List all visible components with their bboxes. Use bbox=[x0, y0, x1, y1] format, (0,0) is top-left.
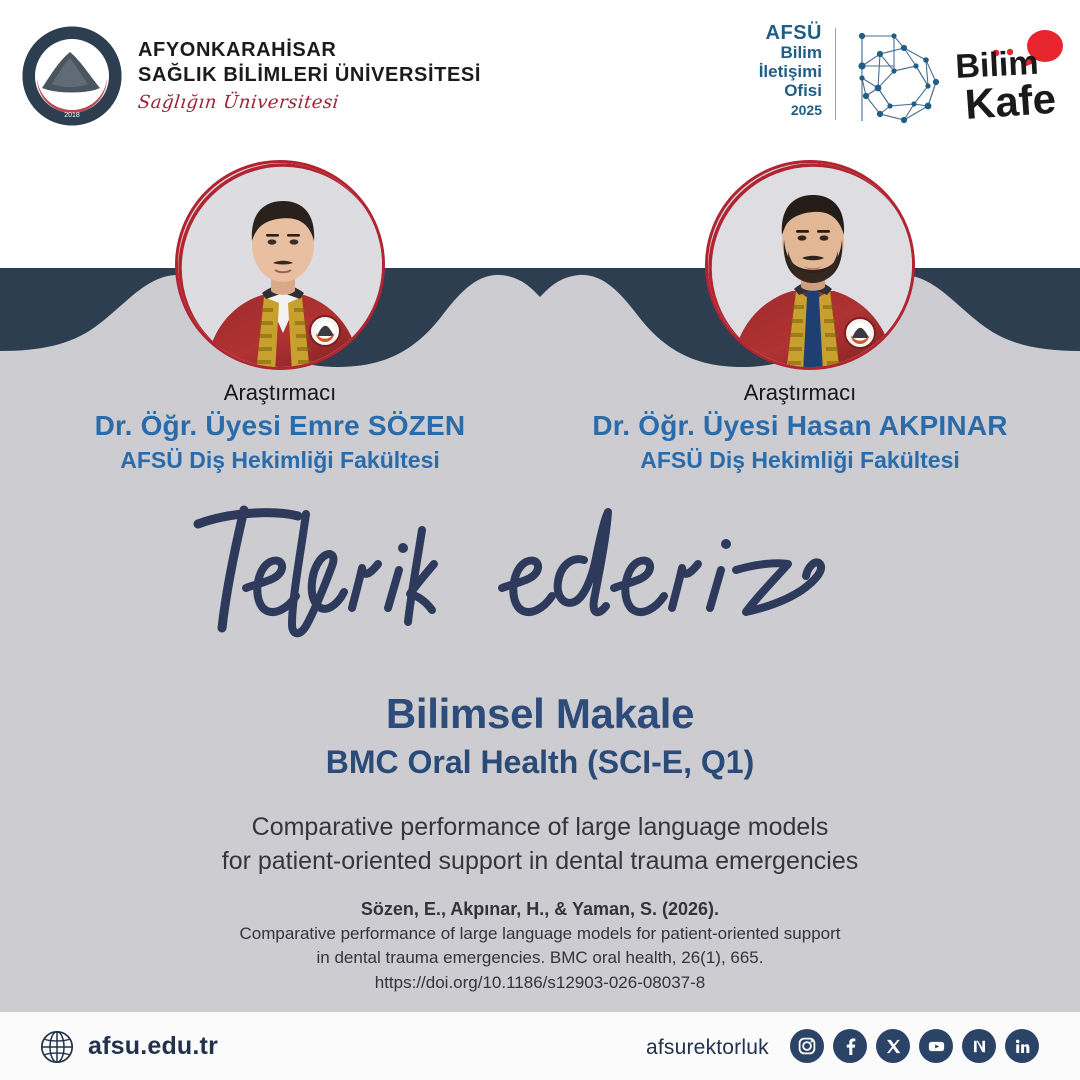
university-seal-icon: 2018 bbox=[22, 26, 122, 126]
instagram-icon[interactable] bbox=[790, 1029, 824, 1063]
office-line-bilim: Bilim bbox=[759, 43, 822, 62]
nsosyal-icon[interactable] bbox=[962, 1029, 996, 1063]
globe-icon bbox=[40, 1030, 74, 1064]
office-line-ofisi: Ofisi bbox=[759, 81, 822, 100]
citation-authors: Sözen, E., Akpınar, H., & Yaman, S. (202… bbox=[0, 896, 1080, 922]
youtube-icon[interactable] bbox=[919, 1029, 953, 1063]
poster-footer: afsu.edu.tr afsurektorluk bbox=[0, 1012, 1080, 1080]
social-links bbox=[790, 1029, 1039, 1063]
citation-title-line1: Comparative performance of large languag… bbox=[0, 922, 1080, 946]
researcher-faculty-2: AFSÜ Diş Hekimliği Fakültesi bbox=[570, 444, 1030, 476]
citation-block: Sözen, E., Akpınar, H., & Yaman, S. (202… bbox=[0, 896, 1080, 995]
header-divider bbox=[835, 28, 836, 120]
article-kicker: Bilimsel Makale bbox=[0, 688, 1080, 740]
office-line-year: 2025 bbox=[759, 101, 822, 120]
congratulations-poster: 2018 AFYONKARAHİSAR SAĞLIK BİLİMLERİ ÜNİ… bbox=[0, 0, 1080, 1080]
seal-year: 2018 bbox=[64, 112, 80, 119]
office-line-iletisimi: İletişimi bbox=[759, 62, 822, 81]
university-name-block: AFYONKARAHİSAR SAĞLIK BİLİMLERİ ÜNİVERSİ… bbox=[138, 38, 481, 113]
researcher-block-1: Araştırmacı Dr. Öğr. Üyesi Emre SÖZEN AF… bbox=[50, 378, 510, 476]
university-name-line2: SAĞLIK BİLİMLERİ ÜNİVERSİTESİ bbox=[138, 63, 481, 88]
article-title-line1: Comparative performance of large languag… bbox=[0, 810, 1080, 844]
article-info: Bilimsel Makale BMC Oral Health (SCI-E, … bbox=[0, 688, 1080, 878]
researcher-faculty-1: AFSÜ Diş Hekimliği Fakültesi bbox=[50, 444, 510, 476]
researcher-photo-2 bbox=[705, 160, 915, 370]
citation-title-line2: in dental trauma emergencies. BMC oral h… bbox=[0, 946, 1080, 970]
network-b-mark-icon bbox=[844, 26, 954, 130]
facebook-icon[interactable] bbox=[833, 1029, 867, 1063]
researcher-photo-1 bbox=[175, 160, 385, 370]
office-line-afsu: AFSÜ bbox=[759, 24, 822, 43]
poster-header: 2018 AFYONKARAHİSAR SAĞLIK BİLİMLERİ ÜNİ… bbox=[0, 0, 1080, 160]
researcher-name-1: Dr. Öğr. Üyesi Emre SÖZEN bbox=[50, 408, 510, 444]
article-journal: BMC Oral Health (SCI-E, Q1) bbox=[0, 740, 1080, 784]
bilim-kafe-logo: Bilim Kafe bbox=[952, 22, 1072, 130]
university-slogan: Sağlığın Üniversitesi bbox=[137, 92, 482, 113]
brand-word-kafe: Kafe bbox=[963, 75, 1057, 128]
website-url[interactable]: afsu.edu.tr bbox=[88, 1032, 218, 1061]
researcher-name-2: Dr. Öğr. Üyesi Hasan AKPINAR bbox=[570, 408, 1030, 444]
x-twitter-icon[interactable] bbox=[876, 1029, 910, 1063]
researcher-role-1: Araştırmacı bbox=[50, 378, 510, 408]
congratulations-headline: Tebrik ederiz bbox=[0, 496, 1080, 656]
science-communication-office-block: AFSÜ Bilim İletişimi Ofisi 2025 bbox=[759, 24, 822, 120]
portrait-emre-sozen bbox=[178, 163, 385, 370]
portrait-hasan-akpinar bbox=[708, 163, 915, 370]
university-name-line1: AFYONKARAHİSAR bbox=[138, 38, 481, 63]
linkedin-icon[interactable] bbox=[1005, 1029, 1039, 1063]
article-title-block: Comparative performance of large languag… bbox=[0, 810, 1080, 878]
article-title-line2: for patient-oriented support in dental t… bbox=[0, 844, 1080, 878]
citation-doi[interactable]: https://doi.org/10.1186/s12903-026-08037… bbox=[0, 970, 1080, 995]
researcher-block-2: Araştırmacı Dr. Öğr. Üyesi Hasan AKPINAR… bbox=[570, 378, 1030, 476]
tebrik-ederiz-script: Tebrik ederiz bbox=[170, 496, 910, 646]
social-handle: afsurektorluk bbox=[646, 1036, 769, 1060]
researcher-role-2: Araştırmacı bbox=[570, 378, 1030, 408]
